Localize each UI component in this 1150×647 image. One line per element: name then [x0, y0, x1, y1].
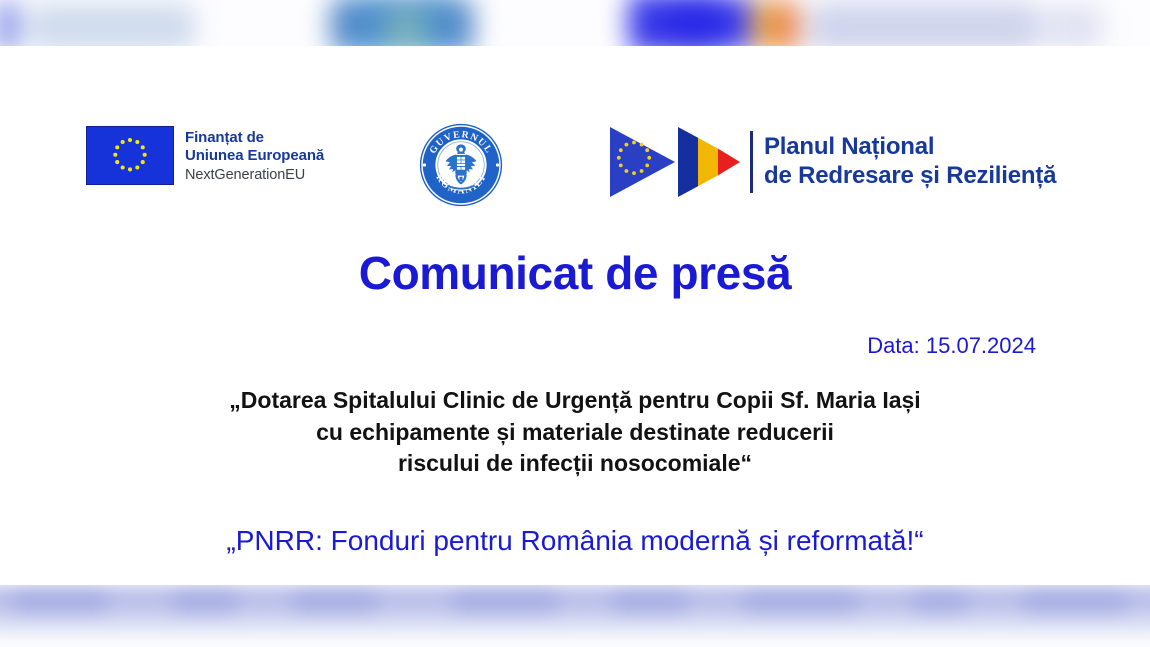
eu-funding-logo: Finanțat de Uniunea Europeană NextGenera… [86, 126, 324, 185]
blurred-top-artifact [0, 0, 1150, 46]
guvernul-romaniei-seal-icon: GUVERNUL ROMÂNIEI [418, 122, 504, 208]
project-title-line: riscului de infecții nosocomiale“ [0, 448, 1150, 480]
blurred-bottom-band [0, 585, 1150, 647]
pnrr-text: Planul Național de Redresare și Rezilien… [764, 133, 1056, 191]
press-release-slide: Finanțat de Uniunea Europeană NextGenera… [0, 0, 1150, 647]
eu-funding-line1: Finanțat de [185, 129, 324, 147]
eu-funding-line3: NextGenerationEU [185, 167, 324, 185]
logo-band: Finanțat de Uniunea Europeană NextGenera… [0, 104, 1150, 214]
page-title: Comunicat de presă [0, 246, 1150, 300]
eu-funding-text: Finanțat de Uniunea Europeană NextGenera… [185, 126, 324, 184]
project-title: „Dotarea Spitalului Clinic de Urgență pe… [0, 385, 1150, 480]
pnrr-arrows-icon [606, 125, 744, 199]
eu-flag-icon [86, 126, 174, 185]
project-title-line: cu echipamente și materiale destinate re… [0, 417, 1150, 449]
pnrr-line2: de Redresare și Reziliență [764, 162, 1056, 191]
pnrr-logo: Planul Național de Redresare și Rezilien… [606, 125, 1056, 199]
project-title-line: „Dotarea Spitalului Clinic de Urgență pe… [0, 385, 1150, 417]
date-label: Data: 15.07.2024 [867, 333, 1036, 359]
eu-funding-line2: Uniunea Europeană [185, 147, 324, 165]
pnrr-line1: Planul Național [764, 133, 1056, 162]
pnrr-slogan: „PNRR: Fonduri pentru România modernă și… [0, 525, 1150, 557]
pnrr-divider-bar [750, 131, 753, 193]
